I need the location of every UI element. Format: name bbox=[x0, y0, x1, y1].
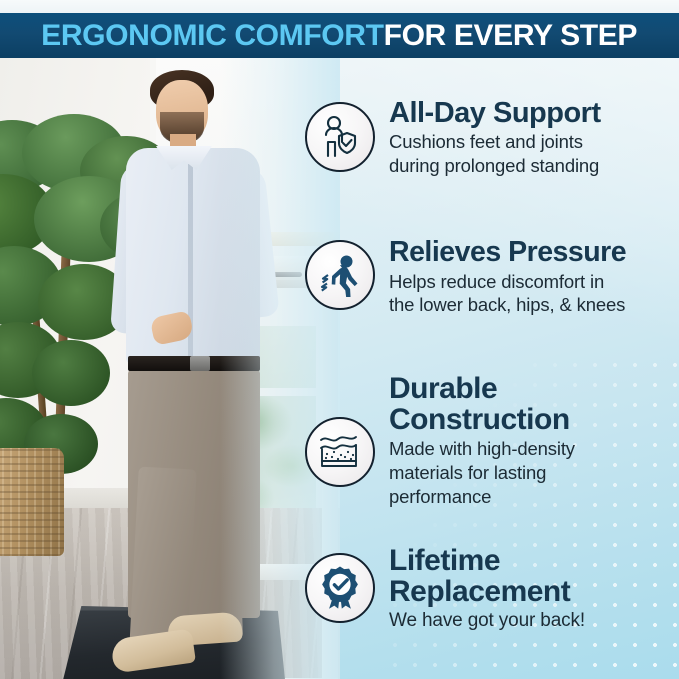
top-strip bbox=[0, 0, 679, 13]
shoe-front bbox=[110, 628, 196, 673]
product-feature-infographic: ERGONOMIC COMFORTFOR EVERY STEP bbox=[0, 0, 679, 679]
feature-text-block: Durable Construction Made with high-dens… bbox=[389, 373, 575, 508]
feature-item-relieves-pressure: Relieves Pressure Helps reduce discomfor… bbox=[300, 238, 679, 317]
feature-title: Relieves Pressure bbox=[389, 238, 626, 268]
feature-item-all-day-support: All-Day Support Cushions feet and joints… bbox=[300, 98, 679, 178]
feature-title: All-Day Support bbox=[389, 98, 601, 128]
award-ribbon-check-icon bbox=[305, 553, 375, 623]
banner-headline: ERGONOMIC COMFORTFOR EVERY STEP bbox=[42, 21, 638, 51]
feature-list: All-Day Support Cushions feet and joints… bbox=[300, 58, 679, 679]
feature-body: We have got your back! bbox=[389, 609, 585, 633]
person-shield-check-icon bbox=[305, 102, 375, 172]
feature-text-block: Lifetime Replacement We have got your ba… bbox=[389, 545, 585, 634]
pot-weave-texture bbox=[0, 448, 64, 556]
person-standing bbox=[94, 68, 284, 679]
lifestyle-photo bbox=[0, 58, 340, 679]
belt-buckle bbox=[190, 356, 210, 371]
feature-title: Lifetime Replacement bbox=[389, 545, 585, 607]
banner-highlight-text: ERGONOMIC COMFORT bbox=[42, 19, 384, 52]
back-pain-person-icon bbox=[305, 240, 375, 310]
feature-body: Helps reduce discomfort in the lower bac… bbox=[389, 270, 626, 317]
banner-white-text: FOR EVERY STEP bbox=[384, 19, 637, 52]
plant-pot bbox=[0, 448, 64, 556]
feature-text-block: Relieves Pressure Helps reduce discomfor… bbox=[389, 238, 626, 317]
feature-body: Cushions feet and joints during prolonge… bbox=[389, 130, 601, 177]
feature-body: Made with high-density materials for las… bbox=[389, 437, 575, 508]
header-banner: ERGONOMIC COMFORTFOR EVERY STEP bbox=[0, 13, 679, 58]
feature-item-durable-construction: Durable Construction Made with high-dens… bbox=[300, 373, 679, 508]
feature-title: Durable Construction bbox=[389, 373, 575, 435]
dress-shirt bbox=[126, 148, 260, 364]
feature-item-lifetime-replacement: Lifetime Replacement We have got your ba… bbox=[300, 545, 679, 634]
feature-text-block: All-Day Support Cushions feet and joints… bbox=[389, 98, 601, 178]
layered-foam-material-icon bbox=[305, 417, 375, 487]
